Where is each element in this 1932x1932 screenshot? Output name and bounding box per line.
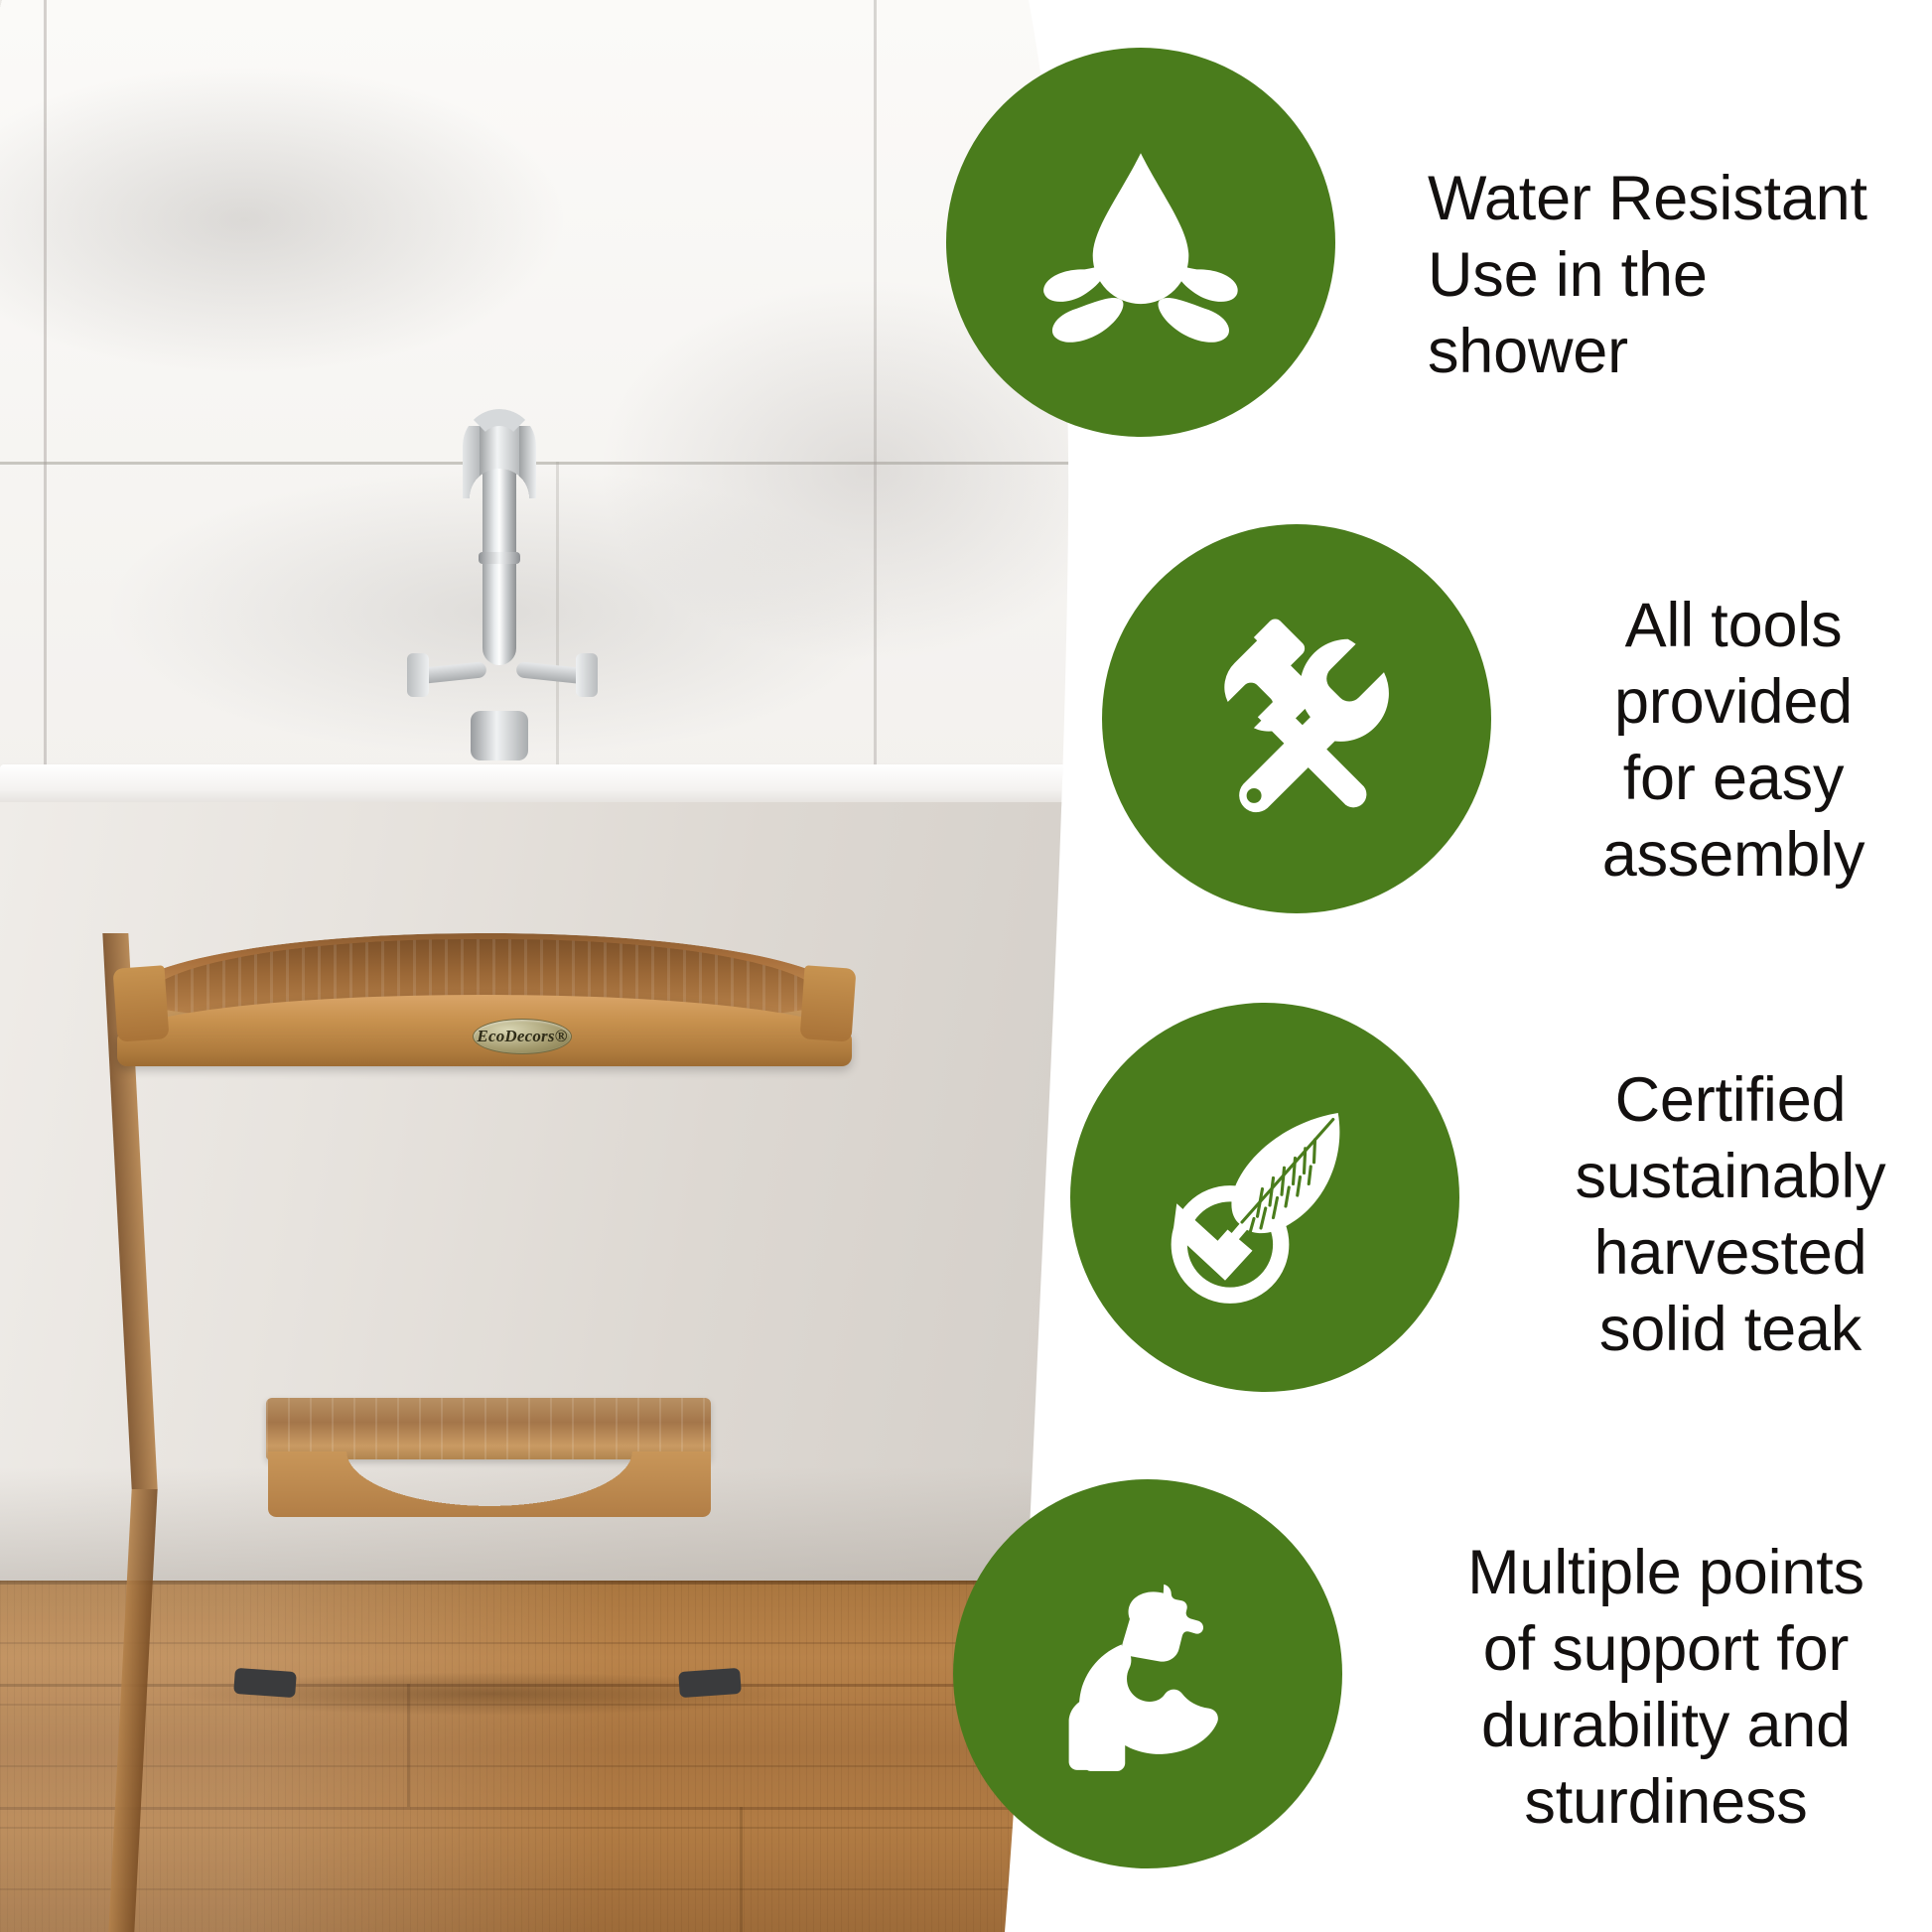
feature-text: Multiple points of support for durabilit… [1408, 1535, 1924, 1840]
feature-icon-badge [946, 48, 1335, 437]
water-drop-splash-icon [1027, 128, 1255, 356]
hammer-wrench-icon [1187, 610, 1406, 828]
flexed-bicep-icon [1032, 1558, 1265, 1791]
feature-icon-badge [1102, 524, 1491, 913]
feature-text: Certified sustainably harvested solid te… [1537, 1062, 1924, 1367]
feature-icon-badge [953, 1479, 1342, 1868]
leaf-checkmark-icon [1141, 1073, 1389, 1321]
infographic-canvas: EcoDecors® Water Resistant Use in the sh… [0, 0, 1932, 1932]
feature-icon-badge [1070, 1003, 1459, 1392]
feature-text: All tools provided for easy assembly [1545, 588, 1922, 893]
feature-list: Water Resistant Use in the shower [0, 0, 1932, 1932]
feature-text: Water Resistant Use in the shower [1428, 161, 1904, 390]
